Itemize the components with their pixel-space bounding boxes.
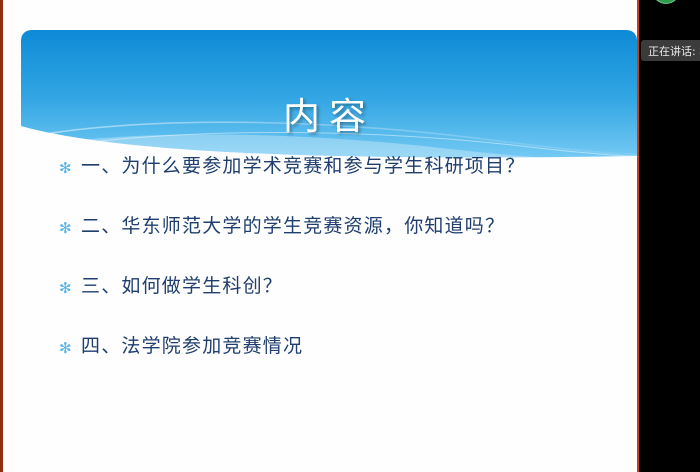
asterisk-bullet-icon: ✻ bbox=[59, 332, 81, 361]
active-speaker-indicator-icon bbox=[652, 0, 680, 4]
screen-share-view: 内容 ✻ 一、为什么要参加学术竞赛和参与学生科研项目？ ✻ 二、华东师范大学的学… bbox=[0, 0, 700, 472]
asterisk-bullet-icon: ✻ bbox=[59, 272, 81, 301]
shared-slide-viewport[interactable]: 内容 ✻ 一、为什么要参加学术竞赛和参与学生科研项目？ ✻ 二、华东师范大学的学… bbox=[0, 0, 639, 472]
slide-banner: 内容 bbox=[21, 30, 637, 158]
asterisk-bullet-icon: ✻ bbox=[59, 212, 81, 241]
list-item: ✻ 一、为什么要参加学术竞赛和参与学生科研项目？ bbox=[59, 152, 619, 212]
list-item: ✻ 二、华东师范大学的学生竞赛资源，你知道吗？ bbox=[59, 212, 619, 272]
list-item: ✻ 四、法学院参加竞赛情况 bbox=[59, 332, 619, 392]
speaking-tooltip: 正在讲话: 华 bbox=[641, 40, 700, 61]
list-item-label: 二、华东师范大学的学生竞赛资源，你知道吗？ bbox=[81, 212, 619, 240]
list-item: ✻ 三、如何做学生科创？ bbox=[59, 272, 619, 332]
list-item-label: 一、为什么要参加学术竞赛和参与学生科研项目？ bbox=[81, 152, 619, 180]
slide-bullet-list: ✻ 一、为什么要参加学术竞赛和参与学生科研项目？ ✻ 二、华东师范大学的学生竞赛… bbox=[59, 152, 619, 392]
list-item-label: 三、如何做学生科创？ bbox=[81, 272, 619, 300]
list-item-label: 四、法学院参加竞赛情况 bbox=[81, 332, 619, 360]
slide-page: 内容 ✻ 一、为什么要参加学术竞赛和参与学生科研项目？ ✻ 二、华东师范大学的学… bbox=[3, 0, 637, 472]
asterisk-bullet-icon: ✻ bbox=[59, 152, 81, 181]
meeting-side-panel bbox=[639, 0, 700, 472]
